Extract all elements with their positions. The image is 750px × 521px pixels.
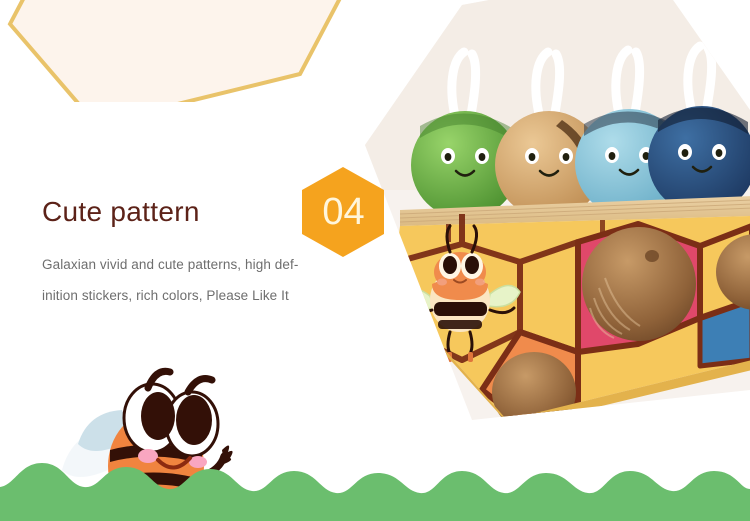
wave-shape xyxy=(0,463,750,521)
decorative-hexagon-outline xyxy=(0,0,400,102)
body-copy-line-2: inition stickers, rich colors, Please Li… xyxy=(42,288,289,303)
promo-banner: 04 Cute pattern Galaxian vivid and cute … xyxy=(0,0,750,521)
product-photo-hexagon xyxy=(352,0,750,420)
photo-content xyxy=(352,0,750,420)
headline: Cute pattern xyxy=(42,196,342,228)
body-copy: Galaxian vivid and cute patterns, high d… xyxy=(42,228,327,311)
mascot-eyes xyxy=(124,384,218,456)
hexagon-outline-shape xyxy=(10,0,358,102)
copy-block: Cute pattern Galaxian vivid and cute pat… xyxy=(42,196,342,311)
body-copy-line-1: Galaxian vivid and cute patterns, high d… xyxy=(42,257,298,272)
green-wave-footer xyxy=(0,461,750,521)
